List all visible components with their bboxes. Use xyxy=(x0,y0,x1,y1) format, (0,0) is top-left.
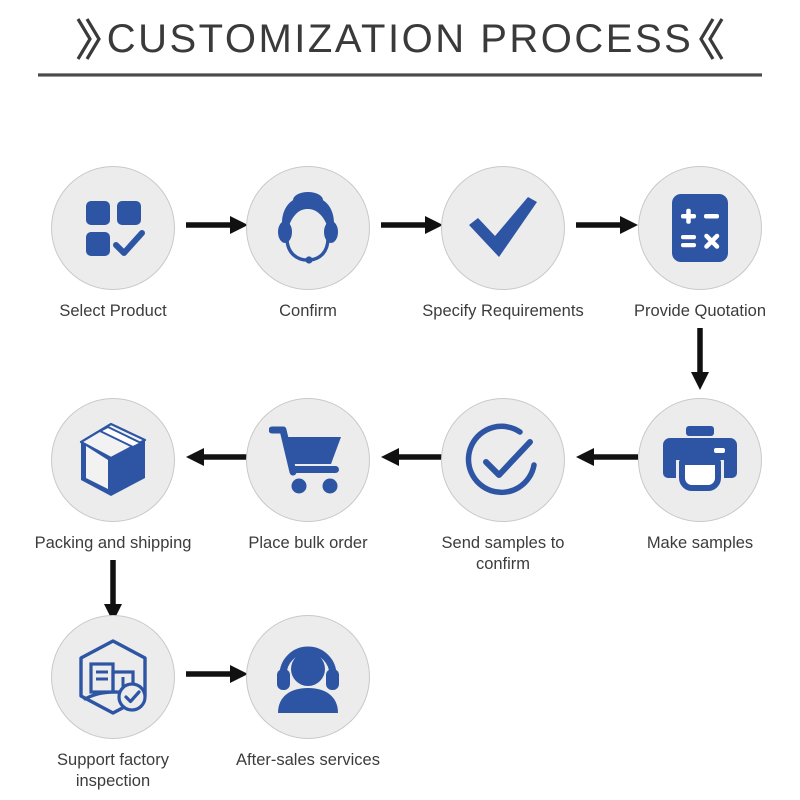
grid-check-icon xyxy=(78,193,148,263)
double-chevron-left-icon xyxy=(699,16,725,62)
step-node-after-sales-services[interactable]: After-sales services xyxy=(223,615,393,771)
step-node-place-bulk-order[interactable]: Place bulk order xyxy=(223,398,393,554)
calculator-icon xyxy=(668,192,732,264)
step-label: Send samples to confirm xyxy=(418,533,588,575)
step-node-provide-quotation[interactable]: Provide Quotation xyxy=(615,166,785,322)
checkmark-icon xyxy=(465,193,541,263)
step-node-specify-requirements[interactable]: Specify Requirements xyxy=(418,166,588,322)
shopping-cart-icon xyxy=(269,424,347,496)
step-icon-circle xyxy=(51,166,175,290)
step-node-packing-and-shipping[interactable]: Packing and shipping xyxy=(28,398,198,554)
printer-icon xyxy=(662,424,738,496)
step-icon-circle xyxy=(51,615,175,739)
step-icon-circle xyxy=(246,166,370,290)
step-node-support-factory-inspection[interactable]: Support factory inspection xyxy=(28,615,198,792)
page-header: CUSTOMIZATION PROCESS xyxy=(0,8,800,70)
step-label: Packing and shipping xyxy=(28,533,198,554)
step-icon-circle xyxy=(638,398,762,522)
step-label: After-sales services xyxy=(223,750,393,771)
step-label: Specify Requirements xyxy=(418,301,588,322)
step-icon-circle xyxy=(246,615,370,739)
double-chevron-right-icon xyxy=(75,16,101,62)
step-label: Confirm xyxy=(223,301,393,322)
factory-shield-check-icon xyxy=(73,637,153,717)
page-title: CUSTOMIZATION PROCESS xyxy=(107,17,694,62)
headset-person-icon xyxy=(269,641,347,713)
step-icon-circle xyxy=(246,398,370,522)
step-label: Place bulk order xyxy=(223,533,393,554)
arrow-quotation-to-make-samples xyxy=(688,328,712,390)
step-label: Provide Quotation xyxy=(615,301,785,322)
package-box-icon xyxy=(75,422,151,498)
arrow-packing-to-inspection xyxy=(101,560,125,622)
step-icon-circle xyxy=(441,166,565,290)
step-node-make-samples[interactable]: Make samples xyxy=(615,398,785,554)
step-icon-circle xyxy=(441,398,565,522)
step-label: Make samples xyxy=(615,533,785,554)
step-label: Support factory inspection xyxy=(28,750,198,792)
circle-check-icon xyxy=(464,421,542,499)
support-agent-icon xyxy=(270,190,346,266)
step-node-confirm[interactable]: Confirm xyxy=(223,166,393,322)
step-icon-circle xyxy=(638,166,762,290)
step-label: Select Product xyxy=(28,301,198,322)
customization-process-infographic: CUSTOMIZATION PROCESS Select Produ xyxy=(0,0,800,800)
title-divider xyxy=(38,73,762,77)
step-node-send-samples-to-confirm[interactable]: Send samples to confirm xyxy=(418,398,588,575)
step-icon-circle xyxy=(51,398,175,522)
step-node-select-product[interactable]: Select Product xyxy=(28,166,198,322)
